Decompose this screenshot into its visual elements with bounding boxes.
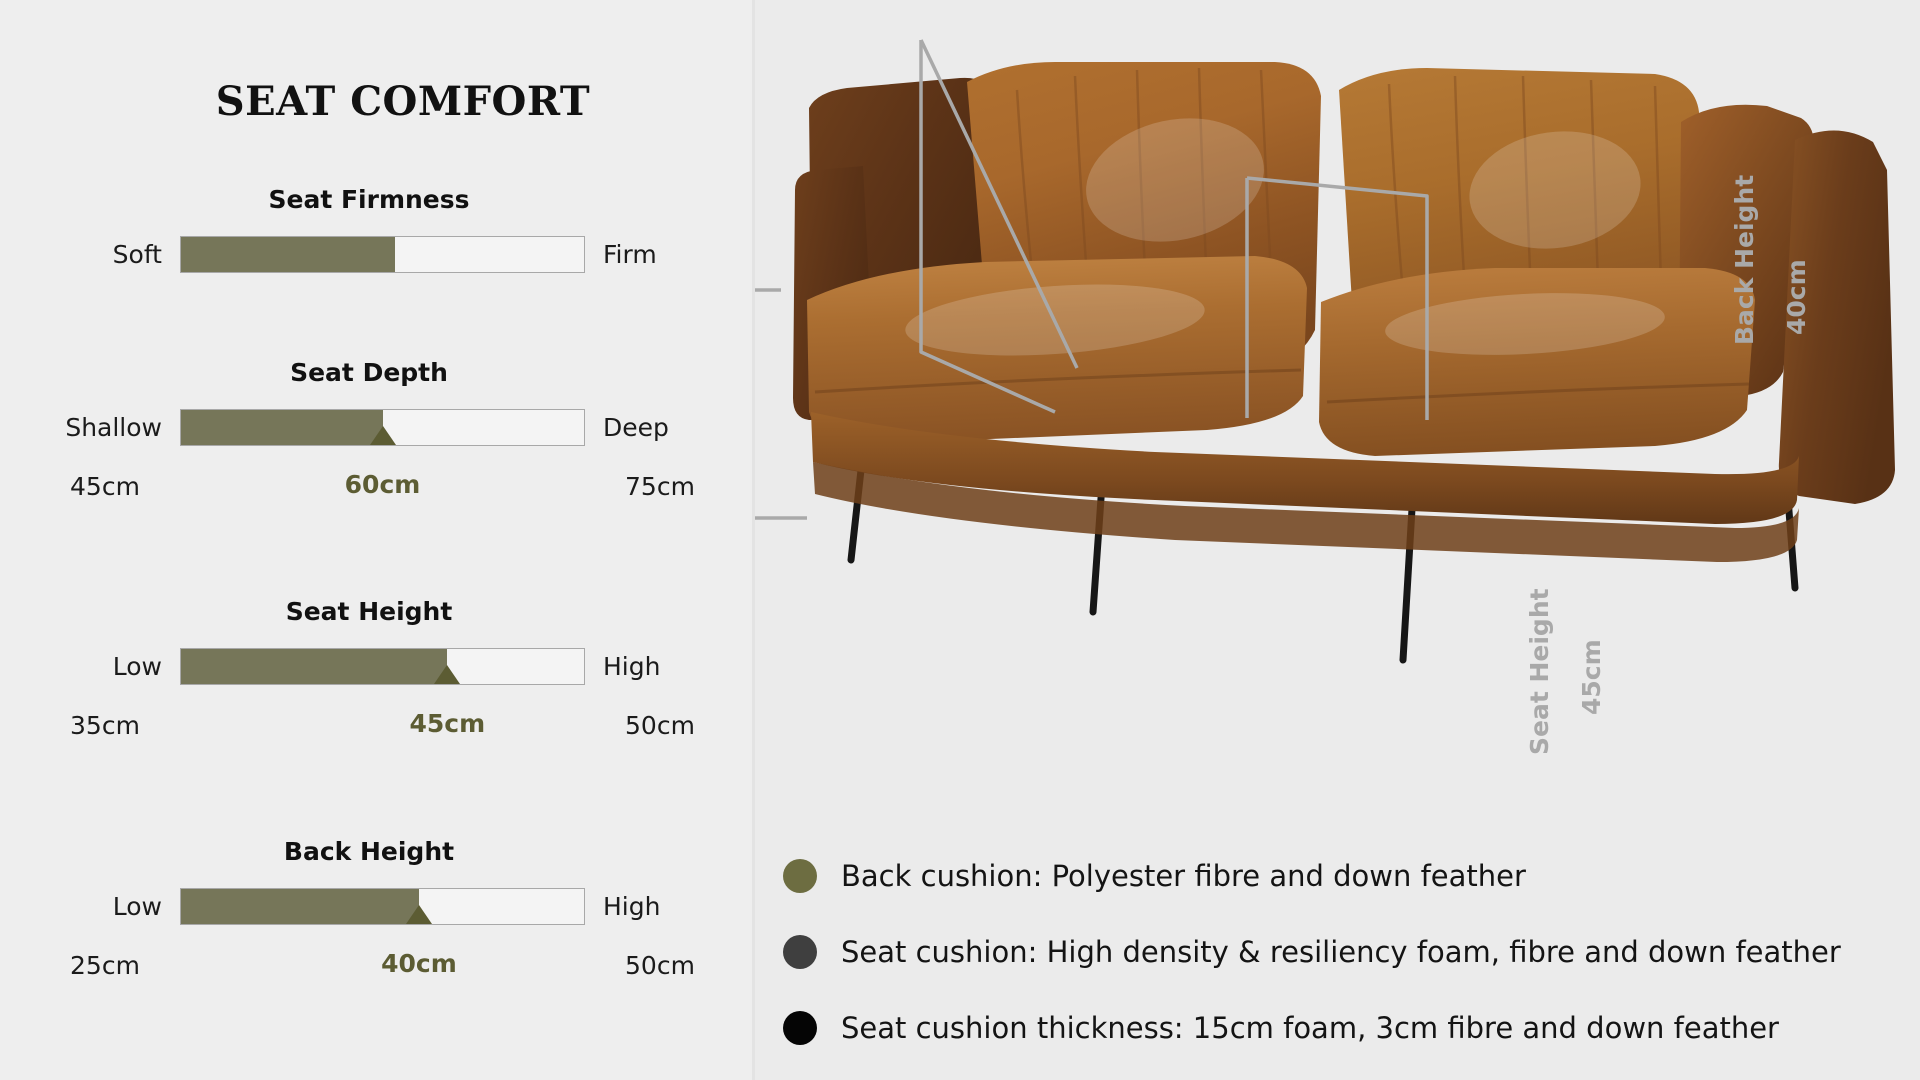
value-min: 25cm <box>30 951 180 980</box>
metric-bar-row: Shallow Deep <box>0 409 752 446</box>
metric-bar-row: Soft Firm <box>0 236 752 273</box>
slider-marker-triangle-icon <box>434 665 460 684</box>
metric-value-row: 25cm 40cm 50cm <box>0 949 752 981</box>
scale-low-label: Shallow <box>30 413 180 442</box>
metric-seat-depth: Seat Depth Shallow Deep 45cm 60cm 75cm <box>0 358 752 502</box>
metric-value-row: 35cm 45cm 50cm <box>0 709 752 741</box>
metric-title: Seat Depth <box>24 358 714 387</box>
slider-fill <box>181 649 447 684</box>
metric-bar-row: Low High <box>0 648 752 685</box>
value-max: 75cm <box>585 472 735 501</box>
value-current-wrap: 60cm <box>180 470 585 502</box>
value-current-wrap: 40cm <box>180 949 585 981</box>
seat-depth-slider[interactable] <box>180 409 585 446</box>
metric-seat-firmness: Seat Firmness Soft Firm <box>0 185 752 273</box>
metric-title: Seat Firmness <box>24 185 714 214</box>
back-height-dimension-label: Back Height <box>1730 175 1759 345</box>
seat-height-slider[interactable] <box>180 648 585 685</box>
legend-label: Seat cushion: High density & resiliency … <box>841 935 1841 969</box>
legend-dot-icon <box>783 859 817 893</box>
sofa-image <box>755 0 1920 830</box>
sofa-diagram-panel: Back Height 40cm Seat Depth 60cm Seat He… <box>755 0 1920 1080</box>
value-current-wrap: 45cm <box>180 709 585 741</box>
legend-item: Back cushion: Polyester fibre and down f… <box>783 838 1913 914</box>
legend-label: Back cushion: Polyester fibre and down f… <box>841 859 1526 893</box>
seat-height-dimension-value: 45cm <box>1577 639 1606 715</box>
metric-title: Seat Height <box>24 597 714 626</box>
materials-legend: Back cushion: Polyester fibre and down f… <box>783 838 1913 1066</box>
page-title: SEAT COMFORT <box>58 78 748 125</box>
back-height-dimension-value: 40cm <box>1782 259 1811 335</box>
legend-label: Seat cushion thickness: 15cm foam, 3cm f… <box>841 1011 1779 1045</box>
scale-high-label: High <box>585 892 735 921</box>
value-current: 40cm <box>381 949 457 978</box>
metric-seat-height: Seat Height Low High 35cm 45cm 50cm <box>0 597 752 741</box>
slider-fill <box>181 410 383 445</box>
scale-low-label: Low <box>30 652 180 681</box>
legend-dot-icon <box>783 935 817 969</box>
scale-low-label: Soft <box>30 240 180 269</box>
value-min: 45cm <box>30 472 180 501</box>
legend-dot-icon <box>783 1011 817 1045</box>
slider-fill <box>181 889 419 924</box>
seat-firmness-slider[interactable] <box>180 236 585 273</box>
metric-value-row: 45cm 60cm 75cm <box>0 470 752 502</box>
value-current: 45cm <box>409 709 485 738</box>
slider-fill <box>181 237 395 272</box>
slider-marker-triangle-icon <box>370 426 396 445</box>
back-height-slider[interactable] <box>180 888 585 925</box>
sofa-diagram: Back Height 40cm Seat Depth 60cm Seat He… <box>755 0 1920 830</box>
value-max: 50cm <box>585 711 735 740</box>
metric-bar-row: Low High <box>0 888 752 925</box>
metric-title: Back Height <box>24 837 714 866</box>
scale-high-label: High <box>585 652 735 681</box>
value-max: 50cm <box>585 951 735 980</box>
legend-item: Seat cushion: High density & resiliency … <box>783 914 1913 990</box>
scale-low-label: Low <box>30 892 180 921</box>
scale-high-label: Deep <box>585 413 735 442</box>
value-current: 60cm <box>345 470 421 499</box>
slider-marker-triangle-icon <box>406 905 432 924</box>
legend-item: Seat cushion thickness: 15cm foam, 3cm f… <box>783 990 1913 1066</box>
seat-height-dimension-label: Seat Height <box>1525 588 1554 755</box>
seat-comfort-infographic: SEAT COMFORT Seat Firmness Soft Firm Sea… <box>0 0 1920 1080</box>
seat-comfort-panel: SEAT COMFORT Seat Firmness Soft Firm Sea… <box>0 0 752 1080</box>
scale-high-label: Firm <box>585 240 735 269</box>
value-min: 35cm <box>30 711 180 740</box>
metric-back-height: Back Height Low High 25cm 40cm 50cm <box>0 837 752 981</box>
